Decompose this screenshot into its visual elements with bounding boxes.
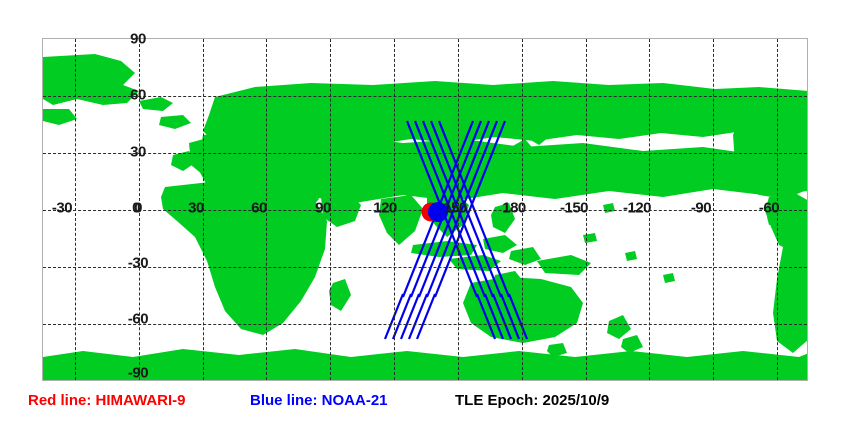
lon-label--120: -120: [623, 200, 651, 217]
lon-label--60: -60: [759, 200, 779, 217]
legend-tle-epoch: TLE Epoch: 2025/10/9: [455, 392, 609, 409]
legend-caption: Red line: HIMAWARI-9 Blue line: NOAA-21 …: [0, 392, 850, 420]
lat-label--30: -30: [128, 255, 148, 272]
lat-label-30: 30: [130, 144, 146, 161]
lon-label-180: 180: [502, 200, 526, 217]
lon-label--150: -150: [560, 200, 588, 217]
legend-noaa: Blue line: NOAA-21: [250, 392, 388, 409]
legend-himawari: Red line: HIMAWARI-9: [28, 392, 186, 409]
gridline-lat-30: [43, 153, 807, 154]
lon-label-30: 30: [188, 200, 204, 217]
lon-label-120: 120: [373, 200, 397, 217]
lat-label-60: 60: [130, 87, 146, 104]
lon-label-90: 90: [315, 200, 331, 217]
lat-label--60: -60: [128, 311, 148, 328]
lat-label-0: 0: [134, 200, 142, 217]
lon-label--90: -90: [691, 200, 711, 217]
gridline-lat--30: [43, 267, 807, 268]
gridline-lat-60: [43, 96, 807, 97]
lat-label-90: 90: [130, 31, 146, 48]
satellite-tracking-map-page: -30 0 30 60 90 120 150 180 -150 -120 -90…: [0, 0, 850, 425]
lon-label-150: 150: [443, 200, 467, 217]
lon-label--30: -30: [52, 200, 72, 217]
lon-label-60: 60: [251, 200, 267, 217]
lat-label--90: -90: [128, 365, 148, 382]
gridline-lat--60: [43, 324, 807, 325]
